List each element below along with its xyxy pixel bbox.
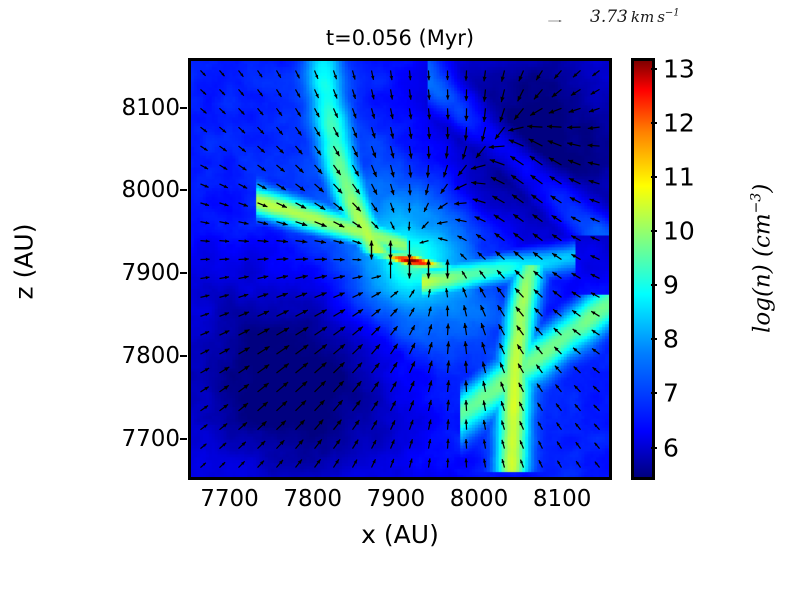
velocity-scale-key: 3.73 km s−1 [520,6,710,36]
density-heatmap [191,61,609,477]
y-tick-mark [180,107,187,109]
colorbar-tick-mark [651,392,657,394]
colorbar-tick-mark [651,68,657,70]
y-axis-label: z (AU) [10,132,39,392]
plot-axes-frame [188,58,612,480]
y-tick-mark [180,189,187,191]
colorbar-tick-label: 6 [663,433,679,462]
velocity-unit-s: s [657,8,665,26]
velocity-unit-km: km [631,8,654,26]
colorbar-label-main: log(n) (cm [749,213,775,333]
velocity-arrow-icon [528,20,582,22]
velocity-scale-label: 3.73 km s−1 [590,7,680,27]
x-axis-label: x (AU) [188,520,612,549]
velocity-quiver-overlay [191,61,609,477]
colorbar-tick-mark [651,447,657,449]
colorbar-tick-label: 7 [663,379,679,408]
y-tick-mark [180,355,187,357]
colorbar-tick-label: 11 [663,163,695,192]
figure-canvas: t=0.056 (Myr) 3.73 km s−1 77007800790080… [0,0,800,600]
colorbar-tick-label: 12 [663,108,695,137]
y-tick-label: 7800 [60,343,180,369]
colorbar-tick-mark [651,122,657,124]
y-tick-label: 8100 [60,95,180,121]
y-tick-label: 7700 [60,426,180,452]
colorbar-tick-label: 8 [663,325,679,354]
y-tick-mark [180,438,187,440]
colorbar-tick-mark [651,176,657,178]
colorbar-label-exponent: −3 [749,193,765,214]
colorbar-tick-mark [651,338,657,340]
colorbar-label: log(n) (cm−3) [749,108,776,408]
x-axis-ticks: 77007800790080008100 [188,486,612,518]
colorbar-tick-mark [651,284,657,286]
y-tick-label: 7900 [60,260,180,286]
colorbar-tick-label: 13 [663,54,695,83]
colorbar-label-tail: ) [749,184,775,193]
x-tick-label: 8100 [502,486,622,512]
colorbar-tick-label: 9 [663,271,679,300]
colorbar-tick-mark [651,230,657,232]
y-tick-mark [180,272,187,274]
velocity-unit-exponent: −1 [665,7,680,18]
y-axis-ticks: 77007800790080008100 [48,58,180,480]
velocity-value: 3.73 [590,7,628,27]
y-tick-label: 8000 [60,177,180,203]
colorbar-tick-label: 10 [663,217,695,246]
